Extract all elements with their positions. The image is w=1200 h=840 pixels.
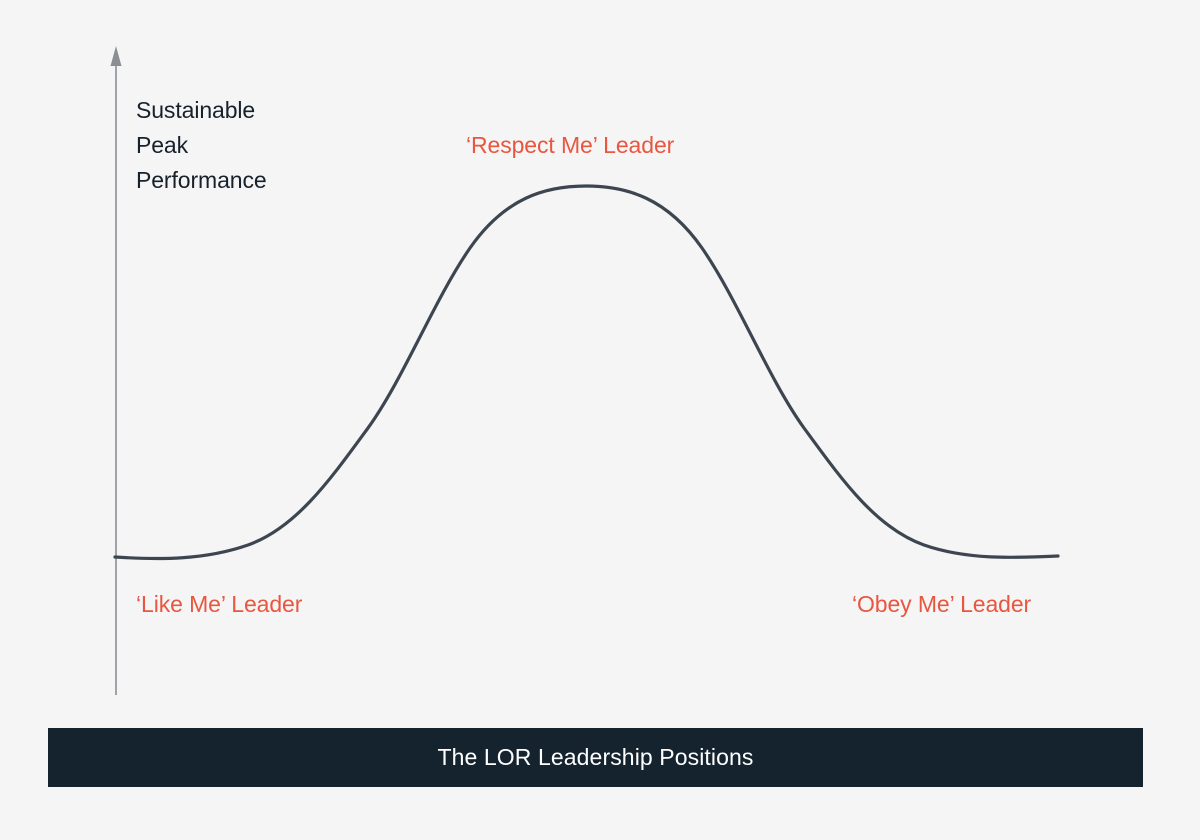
caption-bar: The LOR Leadership Positions [48, 728, 1143, 787]
y-axis [111, 46, 122, 695]
label-respect-me-leader: ‘Respect Me’ Leader [466, 130, 674, 160]
caption-title: The LOR Leadership Positions [437, 746, 753, 769]
label-like-me-leader: ‘Like Me’ Leader [136, 589, 302, 619]
diagram-canvas: Sustainable Peak Performance ‘Respect Me… [0, 0, 1200, 840]
performance-curve [115, 186, 1058, 559]
arrow-up-icon [111, 46, 122, 66]
y-axis-label: Sustainable Peak Performance [136, 93, 366, 198]
label-obey-me-leader: ‘Obey Me’ Leader [852, 589, 1031, 619]
